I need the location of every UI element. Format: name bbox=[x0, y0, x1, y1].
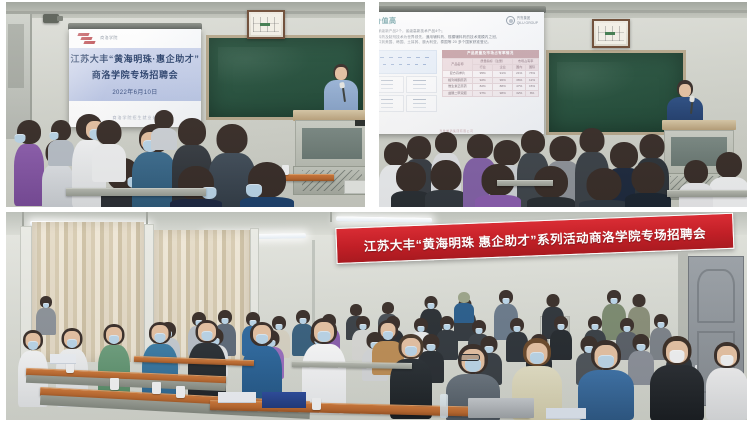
face-mask bbox=[246, 184, 262, 197]
cell: 97% bbox=[473, 90, 493, 96]
audience-member-front bbox=[578, 340, 634, 420]
face-mask bbox=[637, 344, 646, 351]
slide-date: 2022年6月10日 bbox=[112, 87, 157, 96]
head bbox=[217, 124, 248, 154]
torso bbox=[170, 199, 222, 207]
slide-bullet: 出口到美国、韩国、土耳其、澳大利亚、泰国等 20 多个国家获准登记。 bbox=[379, 40, 539, 46]
th-product: 产品名称 bbox=[442, 58, 472, 71]
cell: 98% bbox=[493, 90, 513, 96]
desk-row bbox=[497, 180, 553, 186]
laptop bbox=[468, 398, 534, 418]
slide-title-line2: 商洛学院专场招聘会 bbox=[92, 68, 178, 81]
slide-title-band: 江苏大丰“黄海明珠·惠企助才” 商洛学院专场招聘会 2022年6月10日 bbox=[69, 48, 201, 101]
audience-member bbox=[14, 120, 44, 207]
face-mask bbox=[670, 350, 685, 363]
laptop-lid bbox=[468, 398, 534, 418]
head bbox=[580, 128, 605, 153]
cell: 8% bbox=[526, 90, 539, 96]
molecule-diagram bbox=[379, 50, 437, 74]
head bbox=[640, 134, 665, 159]
audience-member bbox=[240, 162, 294, 207]
desk-row bbox=[66, 188, 206, 196]
laptop-on-lectern bbox=[355, 120, 365, 126]
head bbox=[684, 160, 708, 184]
audience-member-front bbox=[650, 336, 704, 420]
head bbox=[633, 294, 646, 307]
torso bbox=[48, 140, 74, 166]
head bbox=[632, 162, 665, 194]
school-logo-icon bbox=[78, 32, 95, 45]
torso bbox=[706, 368, 747, 420]
wall-clock-frame bbox=[592, 19, 630, 48]
head bbox=[547, 294, 560, 307]
desk-row bbox=[667, 190, 747, 197]
torso bbox=[650, 365, 704, 420]
audience-member bbox=[425, 160, 467, 207]
torso bbox=[42, 164, 74, 207]
mini-chart bbox=[379, 95, 404, 112]
ceiling-beam bbox=[6, 11, 365, 14]
torso bbox=[475, 195, 521, 207]
face-mask bbox=[202, 331, 213, 341]
mini-chart bbox=[406, 95, 436, 112]
head bbox=[382, 302, 394, 314]
photo-collage: 商洛学院 江苏大丰“黄海明珠·惠企助才” 商洛学院专场招聘会 2022年6月10… bbox=[0, 0, 750, 422]
mini-chart-grid bbox=[379, 76, 437, 112]
photo-top-right: 价值高 齐鲁集团 QILU GROUP 国家级新产品2个，省级高新技术产品4个；… bbox=[379, 2, 747, 207]
head bbox=[716, 152, 742, 178]
head bbox=[350, 304, 362, 316]
head bbox=[97, 120, 122, 145]
audience-member bbox=[48, 120, 74, 164]
mini-chart bbox=[406, 76, 436, 93]
floor-sign bbox=[344, 180, 365, 194]
audience-member bbox=[92, 120, 126, 180]
table-row: 盐酸二甲双胍 97% 98% 32% 8% bbox=[442, 90, 538, 96]
cell: 32% bbox=[513, 90, 526, 96]
title-slide: 商洛学院 江苏大丰“黄海明珠·惠企助才” 商洛学院专场招聘会 2022年6月10… bbox=[69, 29, 201, 127]
torso bbox=[425, 190, 467, 207]
slide-columns: 产品质量及市场占有率情况 产品名称 质量指标（注册） 市场占有率 行业 bbox=[379, 50, 539, 112]
torso bbox=[14, 144, 44, 206]
face-mask bbox=[15, 134, 26, 143]
speaker-face bbox=[335, 67, 347, 80]
photo-bottom: 江苏大丰“黄海明珠 惠企助才”系列活动商洛学院专场招聘会 bbox=[6, 212, 747, 420]
paper-cup bbox=[110, 378, 119, 390]
face-mask bbox=[598, 355, 614, 368]
face-mask bbox=[721, 355, 734, 366]
wall-clock-face bbox=[251, 14, 281, 35]
lectern-body bbox=[295, 120, 365, 168]
face-mask bbox=[155, 333, 166, 343]
eyeglasses-icon bbox=[458, 354, 480, 361]
audience-member bbox=[527, 166, 575, 207]
audience-member bbox=[170, 166, 222, 207]
head bbox=[155, 110, 174, 129]
projection-screen-assembly: 价值高 齐鲁集团 QILU GROUP 国家级新产品2个，省级高新技术产品4个；… bbox=[379, 12, 544, 134]
data-slide: 价值高 齐鲁集团 QILU GROUP 国家级新产品2个，省级高新技术产品4个；… bbox=[379, 12, 544, 134]
face-mask bbox=[67, 339, 77, 348]
slide-logo-bar: 商洛学院 bbox=[69, 29, 201, 48]
table-panel: 产品质量及市场占有率情况 产品名称 质量指标（注册） 市场占有率 行业 bbox=[442, 50, 539, 112]
head bbox=[431, 160, 462, 191]
face-mask bbox=[256, 334, 268, 344]
document-folder bbox=[546, 408, 586, 418]
paper-cup bbox=[152, 382, 161, 394]
face-mask bbox=[28, 341, 38, 350]
projection-screen: 商洛学院 江苏大丰“黄海明珠·惠企助才” 商洛学院专场招聘会 2022年6月10… bbox=[69, 29, 201, 127]
torso bbox=[579, 200, 629, 207]
document-folder bbox=[218, 392, 256, 402]
audience-member bbox=[679, 160, 713, 207]
audience-member bbox=[579, 168, 629, 207]
mini-chart bbox=[379, 76, 404, 93]
hat-icon bbox=[458, 292, 470, 303]
presenter-face bbox=[679, 84, 691, 97]
projection-screen-assembly: 商洛学院 江苏大丰“黄海明珠·惠企助才” 商洛学院专场招聘会 2022年6月10… bbox=[69, 29, 201, 127]
projection-screen: 价值高 齐鲁集团 QILU GROUP 国家级新产品2个，省级高新技术产品4个；… bbox=[379, 12, 544, 134]
paper-cup bbox=[176, 386, 185, 398]
face-mask bbox=[318, 331, 331, 342]
audience-member bbox=[709, 152, 747, 207]
head bbox=[407, 136, 431, 160]
face-mask bbox=[530, 352, 544, 364]
wall-clock-face bbox=[596, 23, 626, 44]
cell: 盐酸二甲双胍 bbox=[442, 90, 472, 96]
torso bbox=[625, 193, 671, 207]
company-logo-icon bbox=[506, 16, 515, 25]
door-panel bbox=[8, 24, 24, 88]
face-mask bbox=[109, 335, 119, 344]
audience-member-front bbox=[706, 342, 747, 420]
table-caption: 产品质量及市场占有率情况 bbox=[442, 50, 539, 58]
slide-logo-text: 商洛学院 bbox=[100, 35, 118, 41]
water-bottle bbox=[440, 394, 448, 418]
head bbox=[587, 168, 622, 201]
torso bbox=[527, 197, 575, 207]
slide-bullets: 国家级新产品2个，省级高新技术产品4个； 原料药及制剂技术为世界领先，通用辅料药… bbox=[379, 29, 539, 46]
torso bbox=[578, 370, 634, 420]
paper-cup bbox=[66, 362, 74, 373]
head bbox=[178, 118, 206, 146]
torso bbox=[240, 197, 294, 207]
wall-clock-frame bbox=[247, 10, 285, 39]
torso bbox=[92, 144, 126, 182]
head bbox=[521, 130, 545, 154]
head bbox=[435, 132, 457, 154]
torso bbox=[151, 128, 177, 150]
audience-member bbox=[625, 162, 671, 207]
paper-cup bbox=[312, 398, 321, 410]
document-folder bbox=[50, 354, 76, 363]
face-mask bbox=[405, 346, 417, 356]
company-logo-line2: QILU GROUP bbox=[517, 21, 538, 25]
photo-top-left: 商洛学院 江苏大丰“黄海明珠·惠企助才” 商洛学院专场招聘会 2022年6月10… bbox=[6, 2, 365, 207]
face-mask bbox=[50, 132, 59, 140]
head bbox=[550, 136, 577, 162]
projector-icon bbox=[43, 14, 59, 23]
molecule-panel bbox=[379, 50, 437, 112]
slide-title-line1: 江苏大丰“黄海明珠·惠企助才” bbox=[71, 52, 200, 65]
gift-box bbox=[262, 392, 306, 408]
audience-member bbox=[151, 110, 177, 150]
product-table: 产品质量及市场占有率情况 产品名称 质量指标（注册） 市场占有率 行业 bbox=[442, 50, 539, 97]
company-logo: 齐鲁集团 QILU GROUP bbox=[506, 16, 538, 25]
head bbox=[396, 162, 426, 192]
